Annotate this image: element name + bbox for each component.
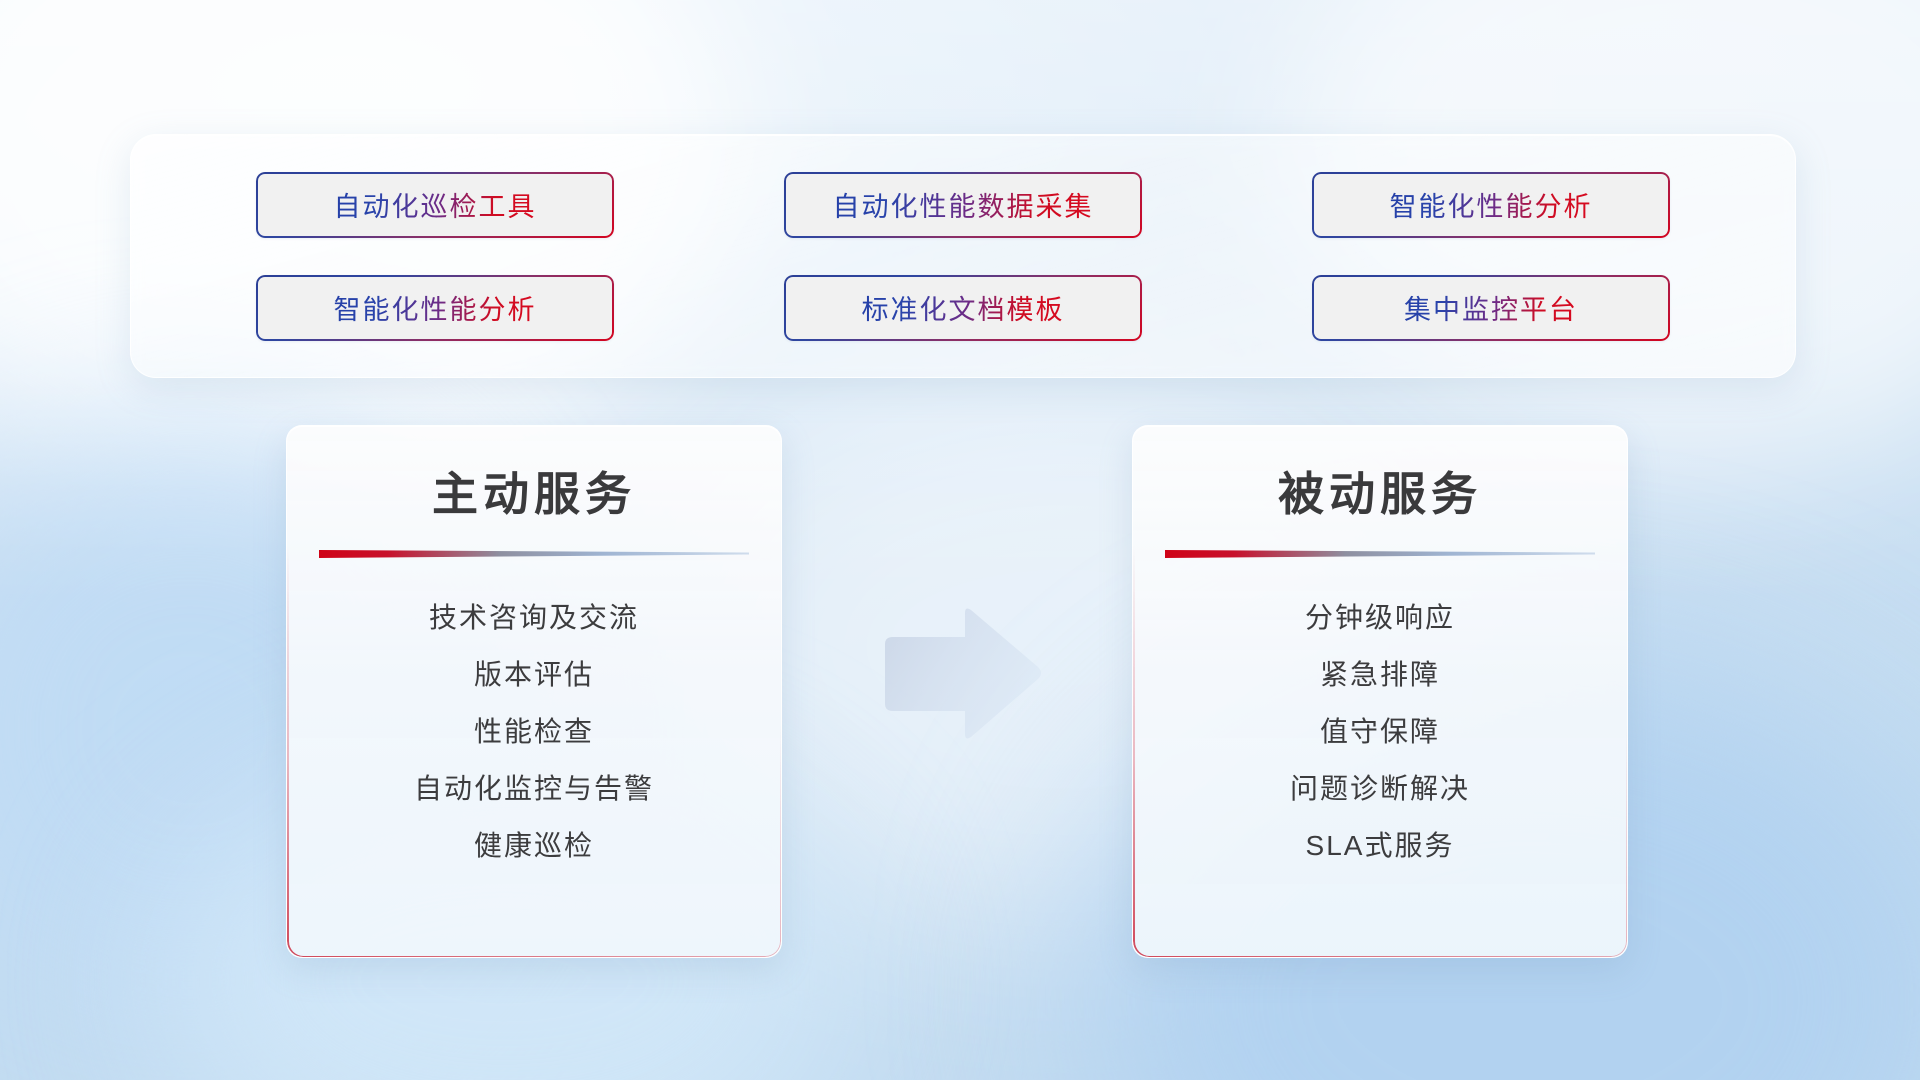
- capability-tag-label: 智能化性能分析: [1390, 185, 1593, 224]
- service-card-title: 被动服务: [1133, 458, 1627, 524]
- capability-tag-6[interactable]: 集中监控平台: [1312, 275, 1670, 341]
- service-list-item: 问题诊断解决: [1133, 761, 1627, 818]
- service-item-list: 技术咨询及交流 版本评估 性能检查 自动化监控与告警 健康巡检: [287, 590, 781, 875]
- capability-tag-5[interactable]: 标准化文档模板: [784, 275, 1142, 341]
- title-divider: [319, 548, 749, 560]
- capability-tag-label: 自动化巡检工具: [334, 185, 537, 224]
- service-list-item: 紧急排障: [1133, 647, 1627, 704]
- capability-tag-label: 集中监控平台: [1404, 288, 1578, 327]
- service-list-item: SLA式服务: [1133, 818, 1627, 875]
- capability-tag-2[interactable]: 自动化性能数据采集: [784, 172, 1142, 238]
- service-list-item: 版本评估: [287, 647, 781, 704]
- service-list-item: 健康巡检: [287, 818, 781, 875]
- service-list-item: 值守保障: [1133, 704, 1627, 761]
- service-list-item: 性能检查: [287, 704, 781, 761]
- capability-tag-label: 智能化性能分析: [334, 288, 537, 327]
- capability-tag-4[interactable]: 智能化性能分析: [256, 275, 614, 341]
- service-list-item: 分钟级响应: [1133, 590, 1627, 647]
- capability-tag-label: 自动化性能数据采集: [833, 185, 1094, 224]
- capability-tags-grid: 自动化巡检工具 自动化性能数据采集 智能化性能分析 智能化性能分析 标准化文档模…: [131, 135, 1795, 377]
- service-card-proactive: 主动服务 技术咨询及交流 版本评估 性能检查 自动化监控与告警 健康巡检: [286, 425, 782, 958]
- service-list-item: 技术咨询及交流: [287, 590, 781, 647]
- service-card-title: 主动服务: [287, 458, 781, 524]
- capability-tag-label: 标准化文档模板: [862, 288, 1065, 327]
- capability-tags-panel: 自动化巡检工具 自动化性能数据采集 智能化性能分析 智能化性能分析 标准化文档模…: [130, 134, 1796, 378]
- title-divider: [1165, 548, 1595, 560]
- capability-tag-1[interactable]: 自动化巡检工具: [256, 172, 614, 238]
- capability-tag-3[interactable]: 智能化性能分析: [1312, 172, 1670, 238]
- service-item-list: 分钟级响应 紧急排障 值守保障 问题诊断解决 SLA式服务: [1133, 590, 1627, 875]
- service-card-reactive: 被动服务 分钟级响应 紧急排障 值守保障 问题诊断解决 SLA式服务: [1132, 425, 1628, 958]
- service-list-item: 自动化监控与告警: [287, 761, 781, 818]
- right-arrow-icon: [875, 604, 1045, 744]
